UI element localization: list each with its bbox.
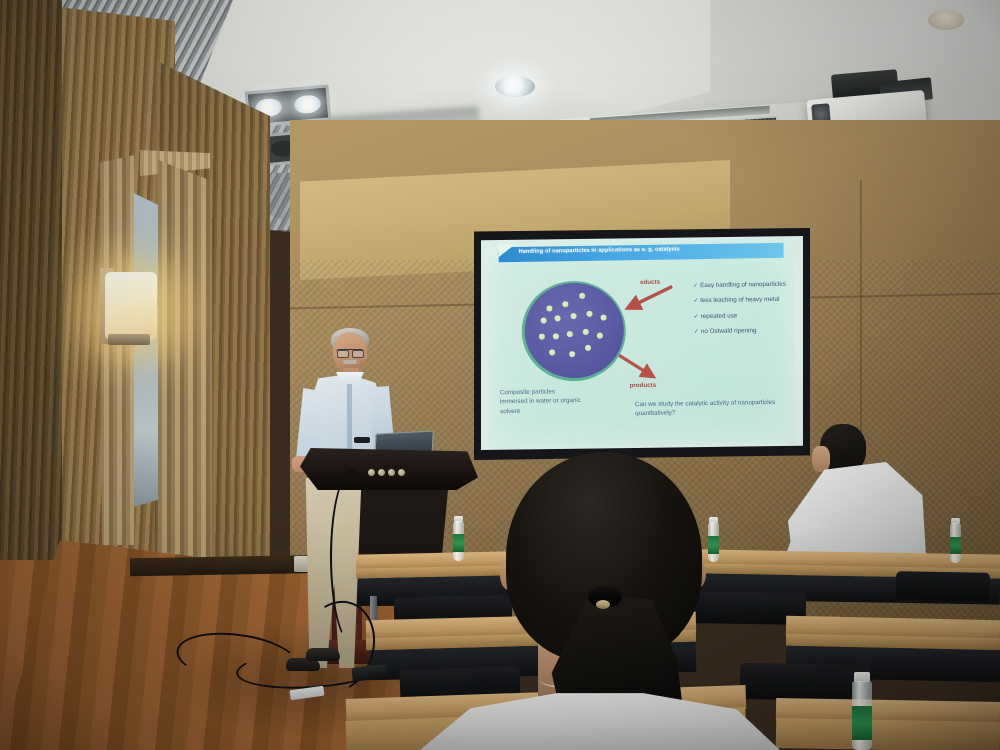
- nanoparticle-dot: [601, 315, 607, 321]
- nanoparticle-dot: [579, 293, 585, 299]
- nanoparticle-dot: [597, 333, 603, 339]
- nanoparticle-dot: [555, 315, 561, 321]
- products-arrow-icon: [615, 352, 661, 385]
- nanoparticle-dot: [539, 334, 545, 340]
- slide-caption: Composite particles immersed in water or…: [500, 387, 584, 417]
- chair: [896, 571, 990, 601]
- check-icon: ✓: [694, 314, 699, 320]
- lamp-bulb: [293, 94, 321, 115]
- presentation-slide: Handling of nanoparticles in application…: [487, 238, 796, 449]
- wall-sconce-base: [108, 334, 150, 345]
- projection-screen: Handling of nanoparticles in application…: [481, 236, 803, 450]
- curtain-right: [158, 160, 212, 580]
- educts-label: educts: [640, 279, 660, 286]
- presenter-moustache: [343, 360, 357, 364]
- slide-bullet-list: ✓Easy handling of nanoparticles ✓less le…: [693, 280, 790, 343]
- wall-sconce-lamp: [105, 272, 157, 340]
- lectern-button[interactable]: [398, 469, 405, 476]
- nanoparticle-dot: [569, 351, 575, 357]
- nanoparticle-dot: [549, 349, 555, 355]
- lectern-control-buttons[interactable]: [368, 468, 414, 476]
- nanoparticle-dot: [583, 329, 589, 335]
- desk-foreground-right-edge: [776, 718, 1000, 750]
- bullet-text: less leaching of heavy metal: [700, 296, 779, 304]
- lectern-button[interactable]: [368, 469, 375, 476]
- bottle-label: [852, 706, 872, 740]
- chair: [740, 663, 871, 701]
- wall-seam: [860, 180, 862, 460]
- list-item: ✓no Ostwald ripening: [694, 326, 790, 338]
- lectern-button[interactable]: [388, 469, 395, 476]
- educts-arrow-icon: [620, 283, 676, 312]
- bottle-label: [453, 534, 464, 552]
- check-icon: ✓: [693, 283, 698, 289]
- bullet-text: repeated use: [701, 312, 738, 320]
- bullet-text: Easy handling of nanoparticles: [700, 281, 786, 289]
- nanoparticle-dot: [546, 305, 552, 311]
- list-item: ✓Easy handling of nanoparticles: [693, 280, 789, 292]
- glasses-icon: [336, 349, 364, 356]
- presentation-clicker[interactable]: [354, 437, 370, 443]
- check-icon: ✓: [694, 329, 699, 335]
- list-item: ✓repeated use: [694, 310, 790, 322]
- products-label: products: [630, 382, 657, 389]
- audience-right-face: [812, 446, 830, 472]
- list-item: ✓less leaching of heavy metal: [693, 295, 789, 307]
- hair-clip-icon: [596, 600, 610, 609]
- smoke-detector-icon: [928, 10, 964, 30]
- lectern-button[interactable]: [378, 469, 385, 476]
- nanoparticle-dot: [553, 333, 559, 339]
- nanoparticle-dot: [571, 313, 577, 319]
- check-icon: ✓: [693, 299, 698, 305]
- nanoparticle-dot: [541, 318, 547, 324]
- bottle-label: [708, 536, 719, 554]
- nanoparticle-dot: [562, 301, 568, 307]
- lecture-room-photo: Handling of nanoparticles in application…: [0, 0, 1000, 750]
- nanoparticle-dot: [586, 311, 592, 317]
- nanoparticle-dot: [567, 331, 573, 337]
- bottle-label: [950, 537, 961, 554]
- bullet-text: no Ostwald ripening: [701, 327, 757, 335]
- nanoparticle-dot: [585, 345, 591, 351]
- slide-question: Can we study the catalytic activity of n…: [635, 398, 785, 419]
- ceiling-downlight: [495, 76, 535, 97]
